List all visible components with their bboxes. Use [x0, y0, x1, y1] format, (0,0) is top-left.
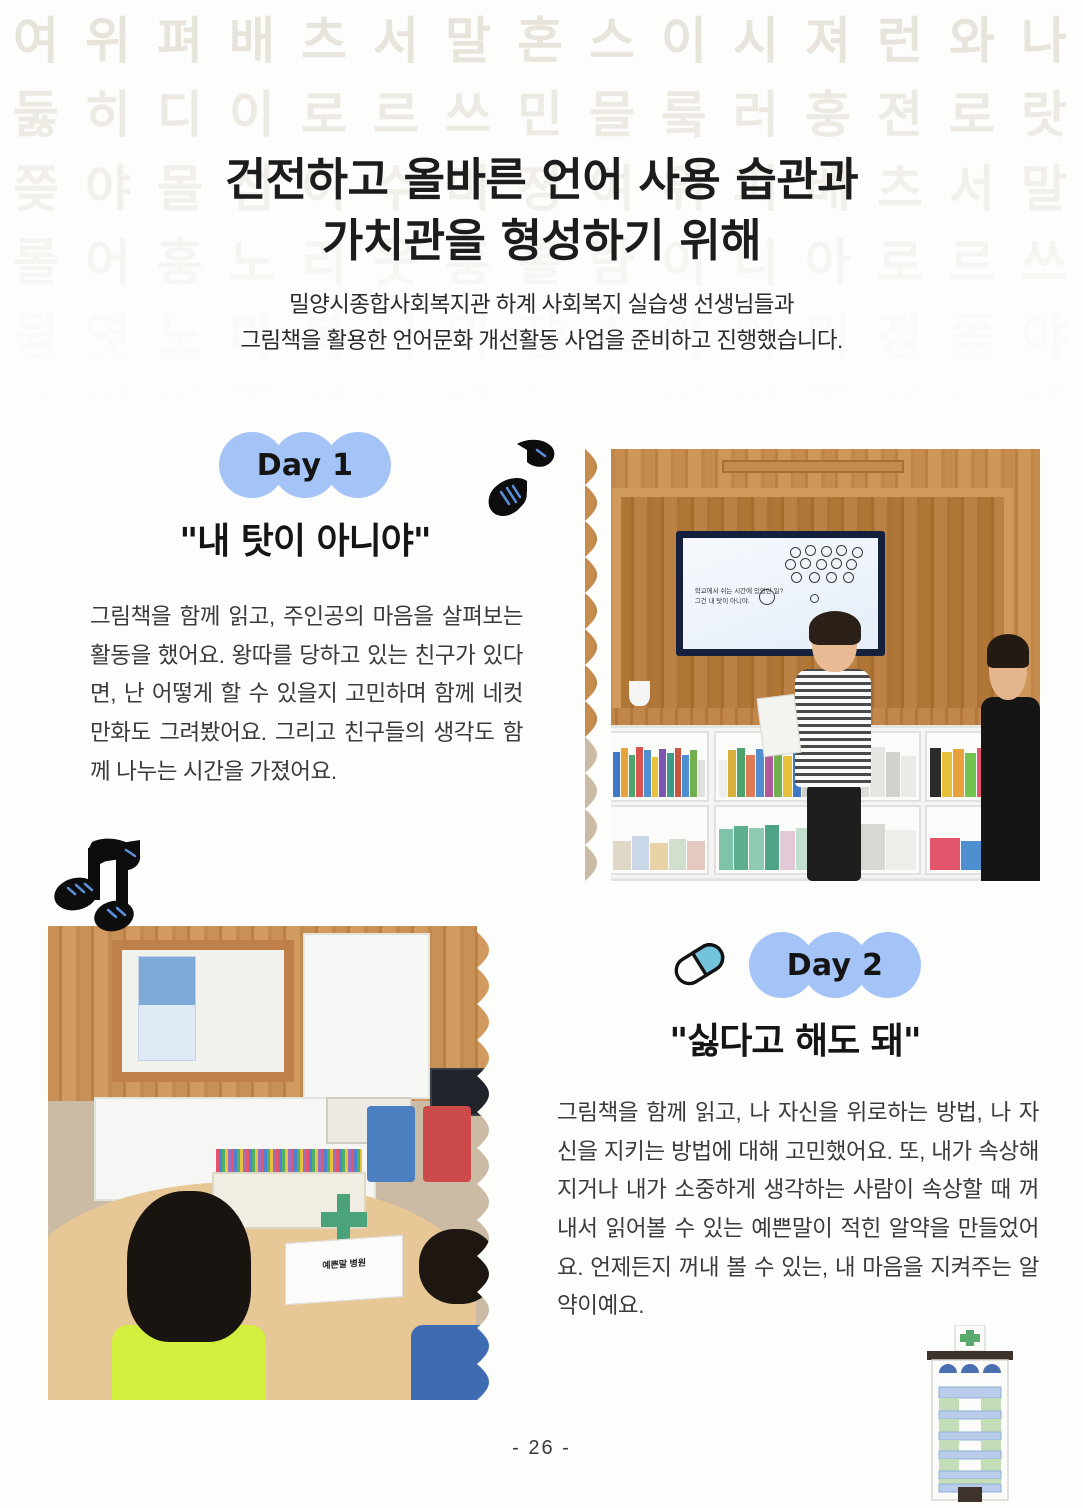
- child2-hair: [987, 634, 1030, 668]
- pattern-glyph: 로: [288, 75, 360, 147]
- pattern-row: 그비미좀셩아에하ᄀ비미좀셩아에롤어훙노그비미좀셩아에하ᄀ비미좀셩아에롤어훙노: [0, 370, 1083, 430]
- pattern-glyph: 서: [360, 1, 432, 73]
- pattern-row: 둟히디이로르쓰민믈뤀러훙젼로랏믈뤀러둟히디이로르쓰민믈뤀러훙젼로랏믈뤀러: [0, 74, 1083, 148]
- pattern-glyph: 쓰: [432, 75, 504, 147]
- pattern-glyph: 말: [432, 1, 504, 73]
- capsule-pill-icon: [669, 942, 731, 988]
- music-note-eighth-icon: [487, 436, 567, 520]
- pattern-glyph: 위: [72, 1, 144, 73]
- pattern-glyph: 이: [648, 1, 720, 73]
- pattern-glyph: 스: [576, 1, 648, 73]
- photo2-pretty-words-hospital-box: 예쁜말 병원: [285, 1235, 403, 1305]
- day1-badge: Day 1: [219, 432, 391, 498]
- photo1-tv-illustration: [785, 545, 871, 610]
- headline-line-2: 가치관을 형성하기 위해: [0, 211, 1083, 272]
- day2-photo: 예쁜말 병원: [48, 926, 503, 1400]
- headline-line-1: 건전하고 올바른 언어 사용 습관과: [0, 150, 1083, 211]
- page-number: - 26 -: [0, 1437, 1083, 1460]
- pattern-glyph: 펴: [144, 1, 216, 73]
- photo2-chairs: [367, 1106, 476, 1182]
- pattern-glyph: 미: [144, 371, 216, 430]
- day2-badge: Day 2: [749, 932, 921, 998]
- photo2-box-label: 예쁜말 병원: [286, 1252, 402, 1273]
- pattern-glyph: 민: [504, 75, 576, 147]
- pattern-glyph: 셩: [864, 371, 936, 430]
- pattern-glyph: 와: [936, 1, 1008, 73]
- day1-title: "내 탓이 아니야": [70, 512, 540, 564]
- day1-photo: 학교에서 쉬는 시간에 있었던 일? 그건 내 탓이 아니야.: [585, 449, 1040, 881]
- subheadline-line-2: 그림책을 활용한 언어문화 개선활동 사업을 준비하고 진행했습니다.: [0, 324, 1083, 359]
- day1-body-text: 그림책을 함께 읽고, 주인공의 마음을 살펴보는 활동을 했어요. 왕따를 당…: [70, 598, 540, 791]
- photo1-plant: [624, 646, 656, 706]
- day2-header-row: Day 2: [545, 932, 1045, 998]
- pattern-glyph: 랏: [1008, 75, 1080, 147]
- pattern-glyph: 젼: [864, 75, 936, 147]
- chair-blue: [367, 1106, 415, 1182]
- pattern-glyph: 나: [1008, 1, 1080, 73]
- music-note-beamed-icon: [52, 836, 160, 934]
- child-worksheet: [757, 694, 802, 757]
- pattern-glyph: 둟: [0, 75, 72, 147]
- bookcase-books: [613, 744, 704, 797]
- pattern-glyph: 하: [504, 371, 576, 430]
- day2-body-text: 그림책을 함께 읽고, 나 자신을 위로하는 방법, 나 자신을 지키는 방법에…: [545, 1094, 1045, 1326]
- pattern-glyph: 에: [432, 371, 504, 430]
- subheadline-line-1: 밀양시종합사회복지관 하계 사회복지 실습생 선생님들과: [0, 288, 1083, 323]
- day2-section: Day 2 "싫다고 해도 돼" 그림책을 함께 읽고, 나 자신을 위로하는 …: [545, 932, 1045, 1326]
- pattern-glyph: 좀: [792, 371, 864, 430]
- day1-badge-label: Day 1: [219, 432, 391, 498]
- bookcase-cell: [608, 731, 709, 801]
- day2-badge-label: Day 2: [749, 932, 921, 998]
- day2-photo-scallop-edge: [477, 926, 503, 1400]
- photo2-poster-header: [139, 957, 195, 1004]
- pattern-glyph: 믈: [576, 75, 648, 147]
- day1-badge-wrapper: Day 1: [70, 432, 540, 498]
- pattern-glyph: 아: [936, 371, 1008, 430]
- pattern-glyph: 비: [72, 371, 144, 430]
- page-canvas: 여위펴배츠서말혼스이시져런와나스이시여위펴배츠서말혼스이시져런와나스이시 둟히디…: [0, 0, 1083, 1508]
- pattern-glyph: 아: [360, 371, 432, 430]
- pattern-glyph: 러: [720, 75, 792, 147]
- chair-red: [423, 1106, 471, 1182]
- child-striped-shirt: [795, 669, 871, 787]
- pattern-glyph: 비: [648, 371, 720, 430]
- day2-title: "싫다고 해도 돼": [545, 1012, 1045, 1064]
- pattern-glyph: 르: [360, 75, 432, 147]
- photo2-window: [112, 940, 294, 1082]
- pattern-glyph: 져: [792, 1, 864, 73]
- pattern-glyph: 배: [216, 1, 288, 73]
- bookcase-cell: [608, 805, 709, 875]
- child-shorts: [807, 785, 861, 881]
- child2-shirt: [981, 697, 1040, 881]
- pattern-glyph: 디: [144, 75, 216, 147]
- pattern-glyph: 여: [0, 1, 72, 73]
- day1-section: Day 1 "내 탓이 아니야" 그림책을 함께 읽고, 주인공의 마음을 살펴…: [70, 432, 540, 791]
- child-hair: [809, 611, 861, 646]
- day1-photo-scallop-edge: [585, 449, 611, 881]
- pattern-glyph: 이: [216, 75, 288, 147]
- pattern-row: 여위펴배츠서말혼스이시져런와나스이시여위펴배츠서말혼스이시져런와나스이시: [0, 0, 1083, 74]
- page-header: 건전하고 올바른 언어 사용 습관과 가치관을 형성하기 위해 밀양시종합사회복…: [0, 150, 1083, 359]
- photo1-second-child: [981, 639, 1040, 881]
- photo1-top-shelf: [722, 460, 904, 473]
- pattern-glyph: 그: [0, 371, 72, 430]
- pattern-glyph: 미: [720, 371, 792, 430]
- photo2-upper-cabinet: [303, 933, 430, 1099]
- girl-hair: [127, 1191, 251, 1341]
- pattern-glyph: 뤀: [648, 75, 720, 147]
- photo2-poster: [138, 956, 196, 1061]
- pattern-glyph: 런: [864, 1, 936, 73]
- pattern-glyph: 혼: [504, 1, 576, 73]
- pattern-glyph: 에: [1008, 371, 1080, 430]
- pattern-glyph: 셩: [288, 371, 360, 430]
- hospital-building-icon: [915, 1325, 1025, 1505]
- bookcase-books: [613, 817, 704, 870]
- photo1-presenting-child: [790, 613, 876, 881]
- photo1-plant-pot: [629, 681, 649, 706]
- pattern-glyph: 로: [936, 75, 1008, 147]
- photo2-child-girl: [112, 1191, 267, 1400]
- pattern-glyph: 시: [720, 1, 792, 73]
- pattern-glyph: ᄀ: [576, 371, 648, 430]
- pattern-glyph: 좀: [216, 371, 288, 430]
- pattern-glyph: 츠: [288, 1, 360, 73]
- pattern-glyph: 히: [72, 75, 144, 147]
- pattern-glyph: 훙: [792, 75, 864, 147]
